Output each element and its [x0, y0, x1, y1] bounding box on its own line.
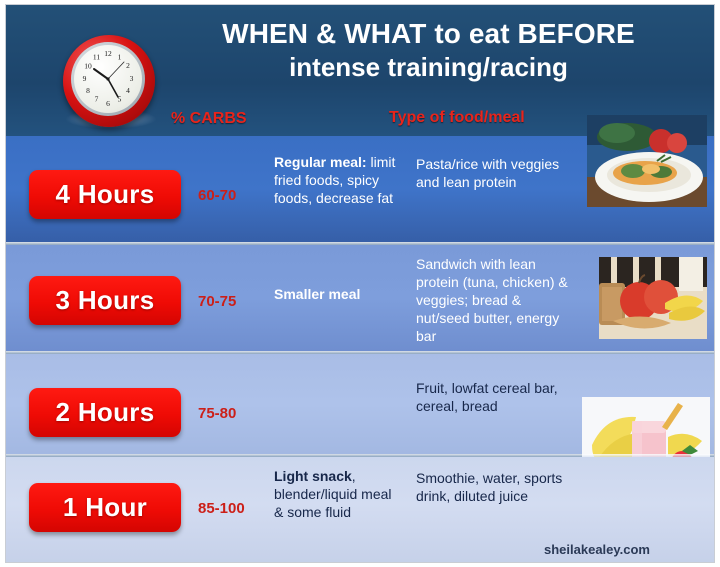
carbs-value-row-2: 70-75	[198, 293, 236, 310]
svg-text:4: 4	[126, 86, 130, 95]
svg-text:7: 7	[95, 95, 99, 104]
svg-text:10: 10	[84, 62, 92, 71]
meal-type-row-1: Regular meal: limit fried foods, spicy f…	[274, 153, 404, 207]
svg-text:2: 2	[126, 61, 130, 70]
carbs-value-row-1: 60-70	[198, 187, 236, 204]
carbs-value-row-4: 85-100	[198, 500, 245, 517]
food-examples-row-2: Sandwich with lean protein (tuna, chicke…	[416, 255, 568, 345]
meal-type-row-4: Light snack, blender/liquid meal & some …	[274, 467, 404, 521]
title-line-2: intense training/racing	[156, 51, 701, 83]
time-badge-label: 2 Hours	[56, 397, 155, 428]
infographic-frame: 12 1 2 3 4 5 6 7 8 9 10 11	[6, 5, 714, 562]
svg-text:9: 9	[83, 74, 87, 83]
svg-text:1: 1	[118, 53, 122, 62]
time-badge-label: 1 Hour	[63, 492, 147, 523]
time-badge-1-hour[interactable]: 1 Hour	[29, 483, 181, 532]
food-examples-row-4: Smoothie, water, sports drink, diluted j…	[416, 469, 568, 505]
time-badge-4-hours[interactable]: 4 Hours	[29, 170, 181, 219]
food-examples-row-3: Fruit, lowfat cereal bar, cereal, bread	[416, 379, 568, 415]
svg-text:12: 12	[104, 49, 112, 58]
plate-of-pasta-with-veggies-photo	[587, 115, 707, 207]
svg-text:3: 3	[130, 74, 134, 83]
credit-attribution: sheilakealey.com	[544, 542, 650, 557]
column-header-carbs: % CARBS	[171, 110, 247, 128]
clock-icon: 12 1 2 3 4 5 6 7 8 9 10 11	[61, 35, 159, 133]
svg-text:11: 11	[93, 53, 100, 62]
meal-type-bold-row-2: Smaller meal	[274, 286, 360, 302]
time-badge-2-hours[interactable]: 2 Hours	[29, 388, 181, 437]
bread-apples-and-bananas-photo	[599, 257, 707, 339]
time-badge-label: 4 Hours	[56, 179, 155, 210]
svg-text:6: 6	[106, 99, 110, 108]
page-title: WHEN & WHAT to eat BEFORE intense traini…	[156, 17, 701, 83]
carbs-value-row-3: 75-80	[198, 405, 236, 422]
clock-face: 12 1 2 3 4 5 6 7 8 9 10 11	[74, 45, 142, 113]
food-examples-row-1: Pasta/rice with veggies and lean protein	[416, 155, 568, 191]
time-badge-3-hours[interactable]: 3 Hours	[29, 276, 181, 325]
svg-text:8: 8	[86, 86, 90, 95]
meal-type-row-2: Smaller meal	[274, 285, 404, 303]
infographic-root: 12 1 2 3 4 5 6 7 8 9 10 11	[0, 0, 720, 567]
time-badge-label: 3 Hours	[56, 285, 155, 316]
title-line-1: WHEN & WHAT to eat BEFORE	[156, 17, 701, 51]
meal-type-bold-row-4: Light snack	[274, 468, 352, 484]
meal-type-bold-row-1: Regular meal:	[274, 154, 367, 170]
column-header-type: Type of food/meal	[389, 109, 525, 127]
